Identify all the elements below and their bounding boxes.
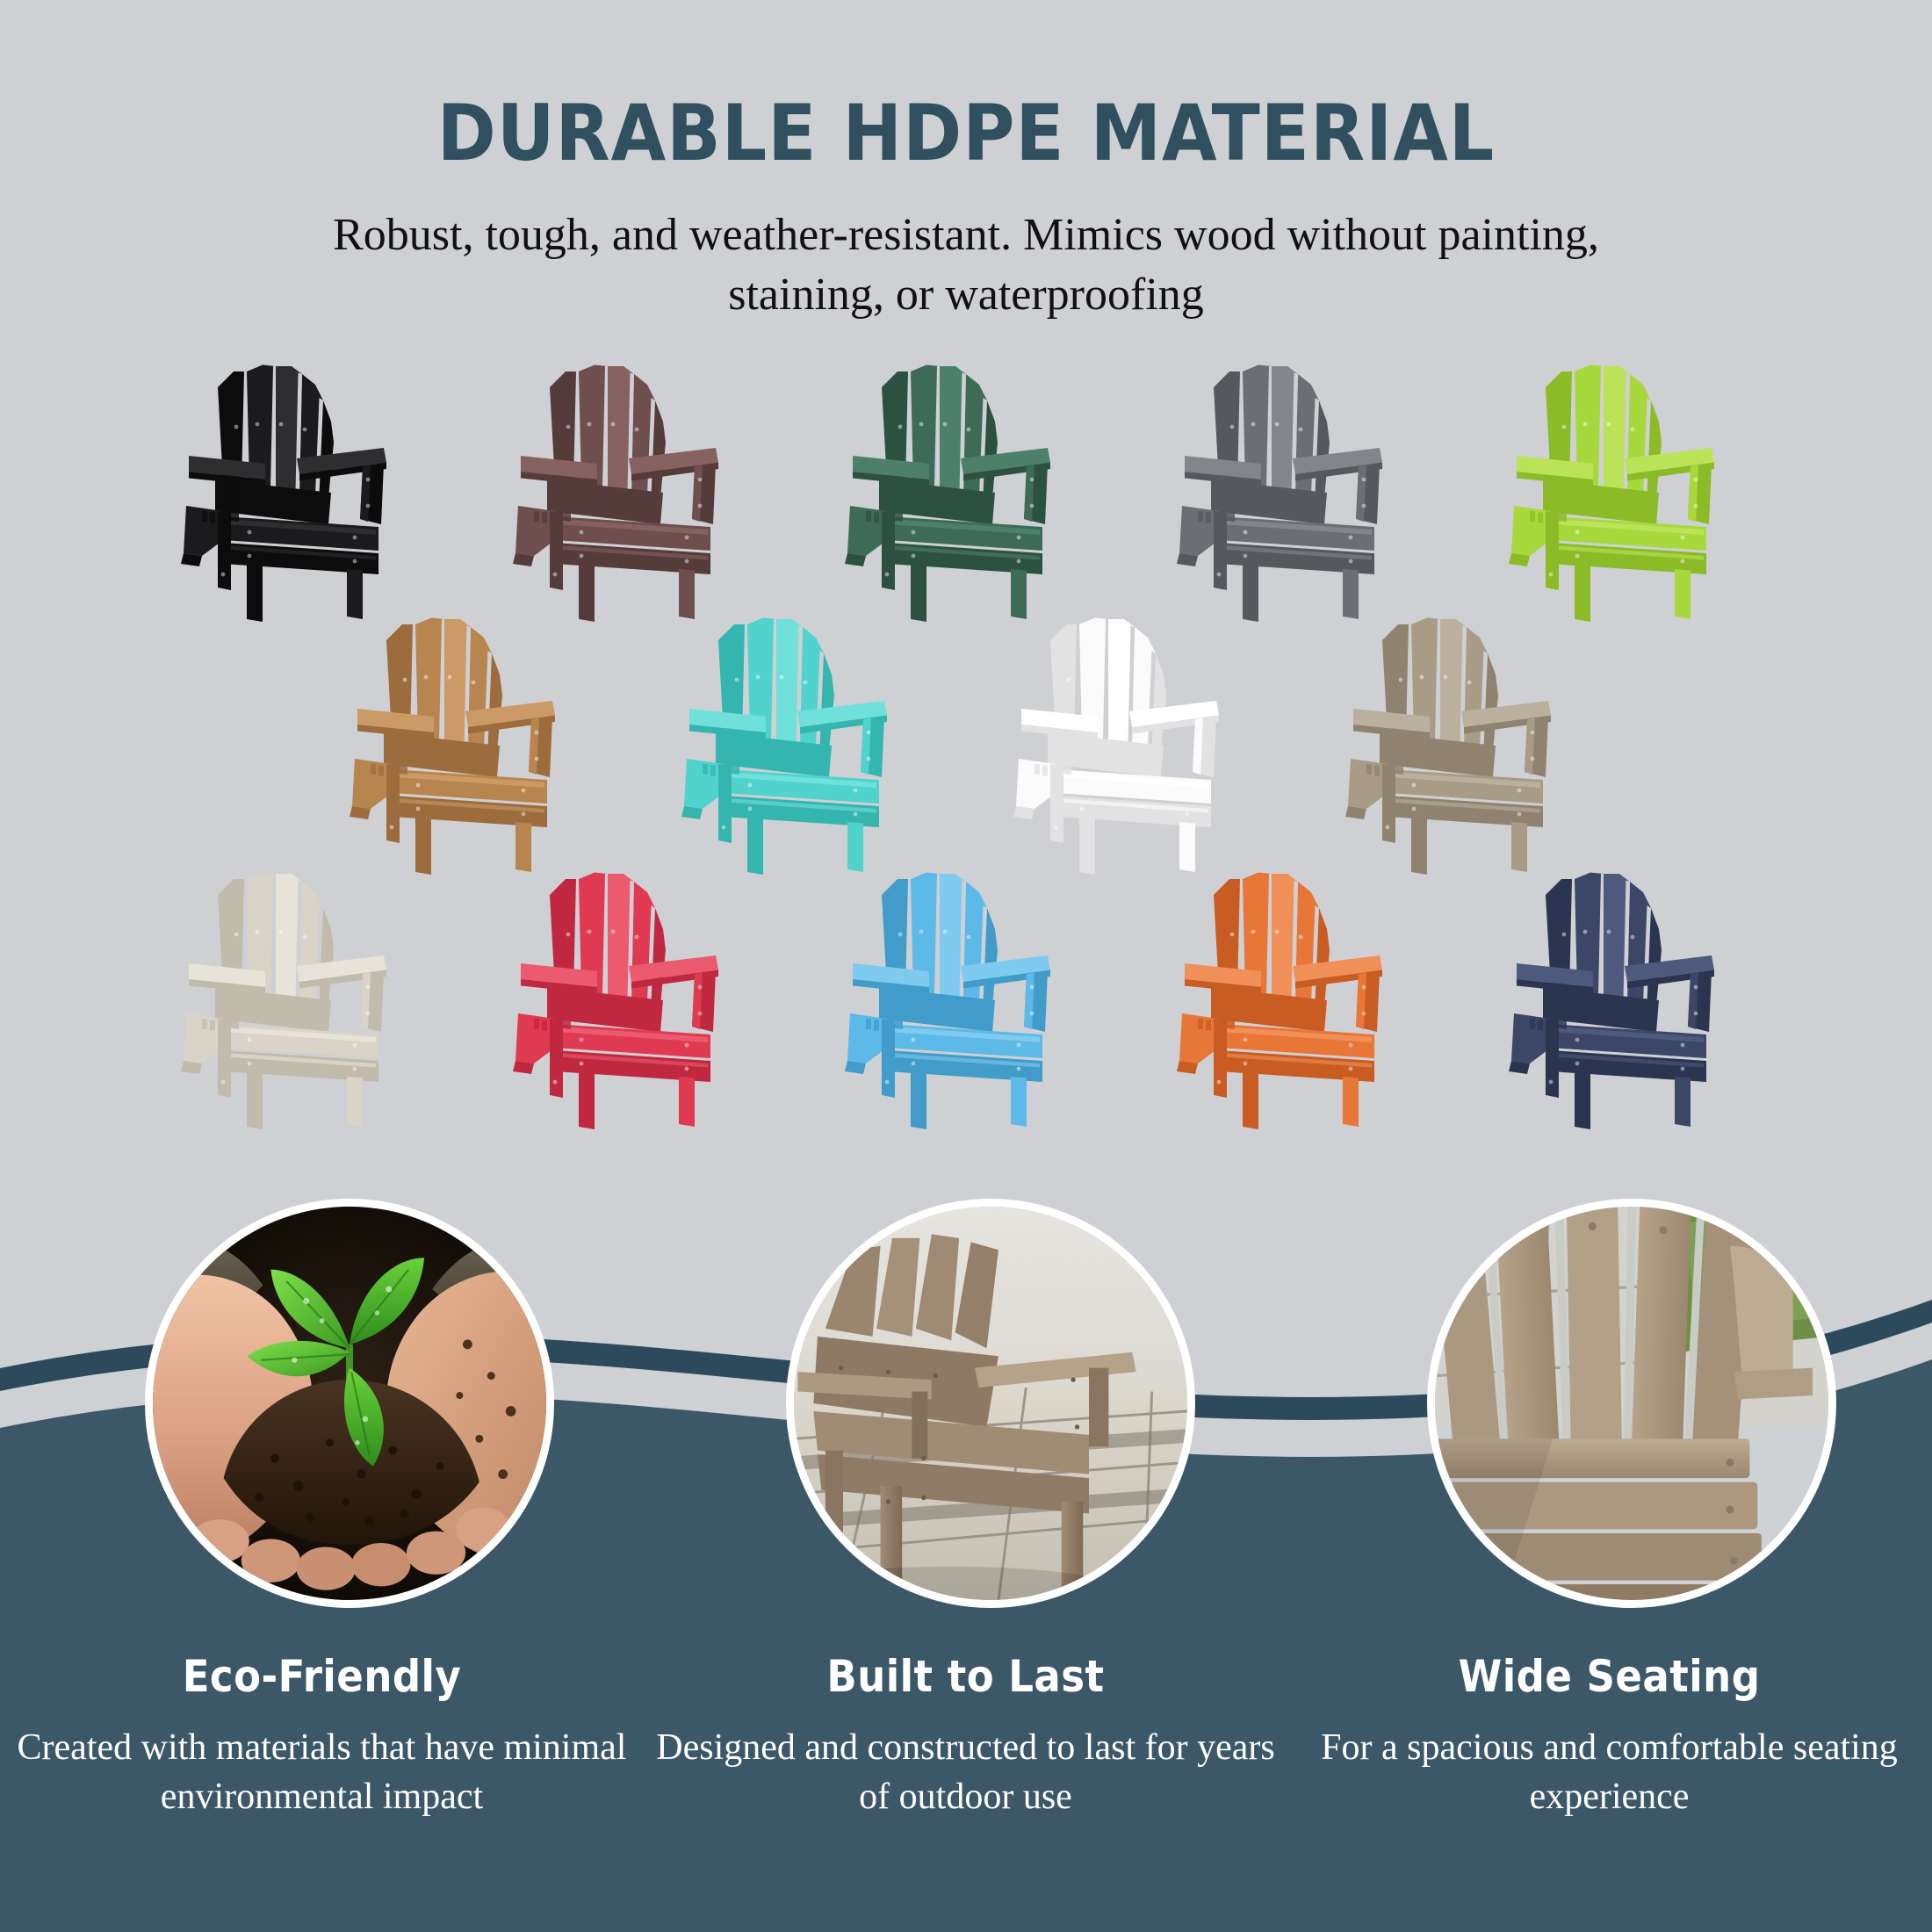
- feature-description: For a spacious and comfortable seating e…: [1287, 1702, 1931, 1822]
- feature-title: Wide Seating: [1287, 1651, 1931, 1702]
- chair-color-grid: [0, 358, 1932, 1129]
- chair-swatch-light-blue[interactable]: [834, 866, 1098, 1129]
- infographic-canvas: DURABLE HDPE MATERIAL Robust, tough, and…: [0, 0, 1932, 1932]
- chair-swatch-turquoise[interactable]: [671, 611, 934, 875]
- chair-illustration: [170, 866, 434, 1129]
- chair-illustration: [502, 358, 766, 622]
- feature-title: Eco-Friendly: [0, 1651, 644, 1702]
- chair-illustration: [834, 866, 1098, 1129]
- feature-wide-seating: Wide Seating For a spacious and comforta…: [1287, 1651, 1931, 1822]
- chair-illustration: [671, 611, 934, 875]
- page-subtitle: Robust, tough, and weather-resistant. Mi…: [281, 172, 1651, 324]
- feature-eco-friendly: Eco-Friendly Created with materials that…: [0, 1651, 644, 1822]
- feature-title: Built to Last: [644, 1651, 1287, 1702]
- chair-illustration: [1166, 358, 1430, 622]
- chair-swatch-teak[interactable]: [339, 611, 602, 875]
- chair-swatch-weathered-wood[interactable]: [1335, 611, 1598, 875]
- chair-swatch-ivory[interactable]: [170, 866, 434, 1129]
- page-title: DURABLE HDPE MATERIAL: [0, 0, 1932, 172]
- chair-illustration: [339, 611, 602, 875]
- header-section: DURABLE HDPE MATERIAL Robust, tough, and…: [0, 0, 1932, 324]
- chair-swatch-dark-green[interactable]: [834, 358, 1098, 622]
- chair-swatch-white[interactable]: [1003, 611, 1266, 875]
- chair-swatch-red[interactable]: [502, 866, 766, 1129]
- chair-illustration: [834, 358, 1098, 622]
- chair-illustration: [1003, 611, 1266, 875]
- feature-built-to-last: Built to Last Designed and constructed t…: [644, 1651, 1287, 1822]
- chair-swatch-navy[interactable]: [1498, 866, 1762, 1129]
- feature-description: Created with materials that have minimal…: [0, 1702, 644, 1822]
- chair-illustration: [170, 358, 434, 622]
- chair-swatch-brown[interactable]: [502, 358, 766, 622]
- chair-illustration: [502, 866, 766, 1129]
- chair-illustration: [1498, 358, 1762, 622]
- chair-swatch-orange[interactable]: [1166, 866, 1430, 1129]
- chair-swatch-black[interactable]: [170, 358, 434, 622]
- chair-row-2: [0, 611, 1932, 875]
- chair-illustration: [1335, 611, 1598, 875]
- chair-swatch-lime-green[interactable]: [1498, 358, 1762, 622]
- chair-illustration: [1498, 866, 1762, 1129]
- feature-captions: Eco-Friendly Created with materials that…: [0, 1651, 1932, 1822]
- bottom-wave-panel: [0, 1265, 1932, 1932]
- chair-row-3: [0, 866, 1932, 1129]
- chair-row-1: [0, 358, 1932, 622]
- feature-description: Designed and constructed to last for yea…: [644, 1702, 1287, 1822]
- chair-swatch-gray[interactable]: [1166, 358, 1430, 622]
- chair-illustration: [1166, 866, 1430, 1129]
